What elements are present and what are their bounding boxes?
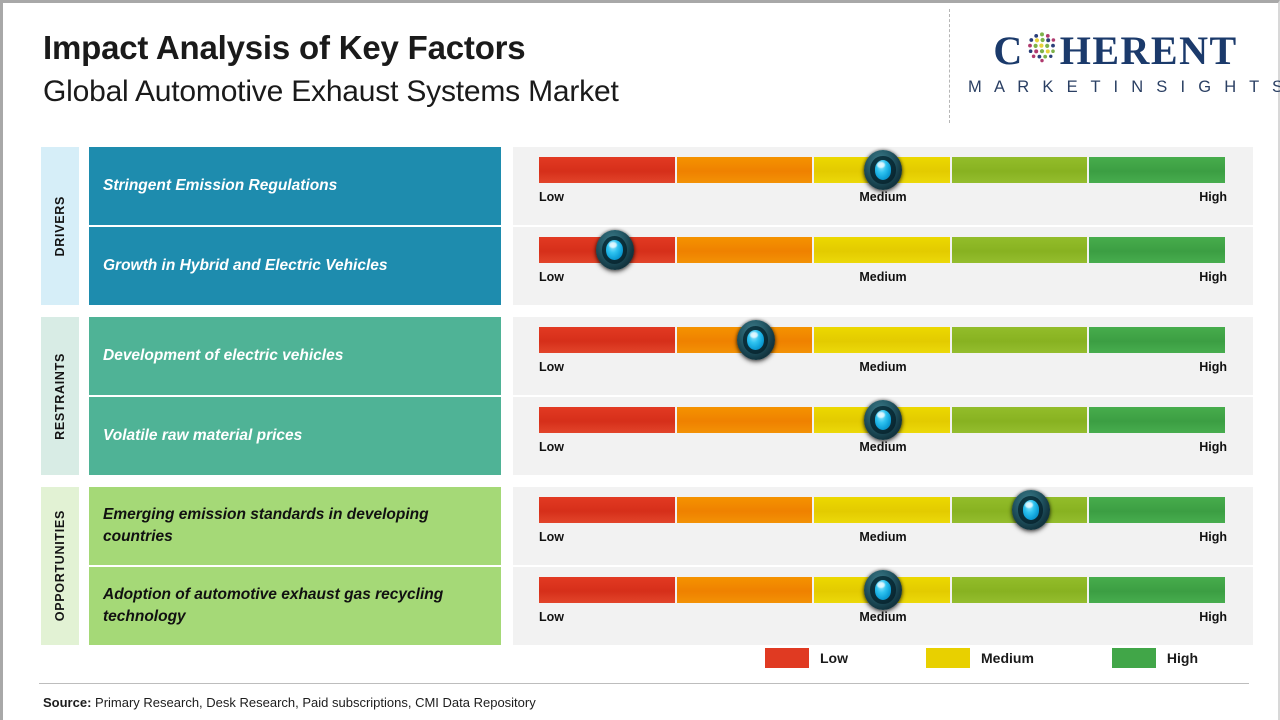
gauge-segment	[1089, 327, 1225, 353]
gauge-segment	[677, 327, 813, 353]
header: Impact Analysis of Key Factors Global Au…	[43, 31, 619, 109]
factor-row: Stringent Emission RegulationsLowMediumH…	[89, 147, 1253, 225]
gauge-bar	[539, 577, 1227, 603]
group-rows: Development of electric vehiclesLowMediu…	[89, 317, 1253, 475]
gauge-scale-labels: LowMediumHigh	[539, 607, 1227, 635]
gauge-segment	[539, 157, 675, 183]
scale-label-high: High	[1199, 440, 1227, 454]
impact-gauge: LowMediumHigh	[513, 567, 1253, 645]
gauge-bar	[539, 497, 1227, 523]
group-tab-label: OPPORTUNITIES	[53, 510, 67, 621]
scale-label-medium: Medium	[859, 270, 906, 284]
factor-label-box[interactable]: Volatile raw material prices	[89, 397, 501, 475]
page-subtitle: Global Automotive Exhaust Systems Market	[43, 75, 619, 110]
slide-root: Impact Analysis of Key Factors Global Au…	[0, 0, 1280, 720]
factor-row: Emerging emission standards in developin…	[89, 487, 1253, 565]
group-tab-opportunities: OPPORTUNITIES	[41, 487, 79, 645]
scale-label-medium: Medium	[859, 360, 906, 374]
gauge-segment	[1089, 157, 1225, 183]
scale-label-medium: Medium	[859, 610, 906, 624]
logo-letter-c: C	[993, 31, 1023, 71]
scale-label-low: Low	[539, 190, 564, 204]
scale-label-low: Low	[539, 610, 564, 624]
scale-label-low: Low	[539, 270, 564, 284]
factor-label: Volatile raw material prices	[103, 425, 302, 447]
factor-group: RESTRAINTSDevelopment of electric vehicl…	[41, 317, 1253, 475]
header-divider	[949, 9, 950, 123]
scale-label-high: High	[1199, 270, 1227, 284]
factor-group: DRIVERSStringent Emission RegulationsLow…	[41, 147, 1253, 305]
factor-label: Growth in Hybrid and Electric Vehicles	[103, 255, 388, 277]
legend-item: High	[1112, 648, 1198, 668]
group-rows: Emerging emission standards in developin…	[89, 487, 1253, 645]
factor-group: OPPORTUNITIESEmerging emission standards…	[41, 487, 1253, 645]
legend-swatch	[926, 648, 970, 668]
gauge-segment	[952, 157, 1088, 183]
scale-label-high: High	[1199, 610, 1227, 624]
legend-item: Medium	[926, 648, 1034, 668]
gauge-segment	[677, 157, 813, 183]
gauge-segment	[539, 407, 675, 433]
gauge-segment	[952, 407, 1088, 433]
factor-label: Development of electric vehicles	[103, 345, 343, 367]
logo-wordmark-rest: HERENT	[1060, 31, 1238, 71]
impact-gauge: LowMediumHigh	[513, 227, 1253, 305]
impact-gauge: LowMediumHigh	[513, 397, 1253, 475]
group-rows: Stringent Emission RegulationsLowMediumH…	[89, 147, 1253, 305]
legend-swatch	[1112, 648, 1156, 668]
gauge-segment	[952, 237, 1088, 263]
scale-label-medium: Medium	[859, 440, 906, 454]
globe-icon	[1025, 30, 1059, 71]
gauge-segment	[952, 327, 1088, 353]
group-tab-label: RESTRAINTS	[53, 353, 67, 440]
factor-label: Stringent Emission Regulations	[103, 175, 337, 197]
scale-label-low: Low	[539, 360, 564, 374]
source-note: Source: Primary Research, Desk Research,…	[43, 695, 536, 710]
gauge-segment	[814, 237, 950, 263]
logo-tagline: M A R K E T I N S I G H T S	[968, 78, 1263, 97]
gauge-scale-labels: LowMediumHigh	[539, 357, 1227, 385]
gauge-segment	[814, 327, 950, 353]
factor-label-box[interactable]: Adoption of automotive exhaust gas recyc…	[89, 567, 501, 645]
scale-label-high: High	[1199, 190, 1227, 204]
group-tab-drivers: DRIVERS	[41, 147, 79, 305]
source-label: Source:	[43, 695, 91, 710]
factor-row: Growth in Hybrid and Electric VehiclesLo…	[89, 227, 1253, 305]
legend: LowMediumHigh	[765, 648, 1198, 668]
gauge-segment	[539, 497, 675, 523]
legend-label: Low	[820, 650, 848, 666]
impact-gauge: LowMediumHigh	[513, 487, 1253, 565]
gauge-segment	[814, 577, 950, 603]
factor-label: Adoption of automotive exhaust gas recyc…	[103, 584, 487, 628]
gauge-scale-labels: LowMediumHigh	[539, 527, 1227, 555]
factor-label-box[interactable]: Emerging emission standards in developin…	[89, 487, 501, 565]
gauge-segment	[1089, 497, 1225, 523]
gauge-scale-labels: LowMediumHigh	[539, 187, 1227, 215]
gauge-segment	[677, 407, 813, 433]
scale-label-high: High	[1199, 360, 1227, 374]
scale-label-medium: Medium	[859, 530, 906, 544]
impact-gauge: LowMediumHigh	[513, 147, 1253, 225]
gauge-bar	[539, 327, 1227, 353]
gauge-segment	[814, 407, 950, 433]
factor-row: Adoption of automotive exhaust gas recyc…	[89, 567, 1253, 645]
gauge-segment	[539, 327, 675, 353]
factor-label: Emerging emission standards in developin…	[103, 504, 487, 548]
scale-label-low: Low	[539, 530, 564, 544]
gauge-segment	[1089, 577, 1225, 603]
scale-label-low: Low	[539, 440, 564, 454]
gauge-bar	[539, 407, 1227, 433]
company-logo: C	[968, 30, 1263, 97]
gauge-scale-labels: LowMediumHigh	[539, 267, 1227, 295]
footer-divider	[39, 683, 1249, 684]
gauge-segment	[952, 577, 1088, 603]
factor-row: Development of electric vehiclesLowMediu…	[89, 317, 1253, 395]
impact-matrix: DRIVERSStringent Emission RegulationsLow…	[41, 147, 1253, 645]
source-text: Primary Research, Desk Research, Paid su…	[91, 695, 535, 710]
legend-item: Low	[765, 648, 848, 668]
scale-label-high: High	[1199, 530, 1227, 544]
legend-label: Medium	[981, 650, 1034, 666]
impact-gauge: LowMediumHigh	[513, 317, 1253, 395]
legend-swatch	[765, 648, 809, 668]
gauge-bar	[539, 237, 1227, 263]
factor-label-box[interactable]: Stringent Emission Regulations	[89, 147, 501, 225]
group-tab-label: DRIVERS	[53, 196, 67, 256]
gauge-segment	[539, 237, 675, 263]
gauge-segment	[814, 497, 950, 523]
gauge-bar	[539, 157, 1227, 183]
logo-wordmark: C	[968, 30, 1263, 71]
page-title: Impact Analysis of Key Factors	[43, 31, 619, 66]
legend-label: High	[1167, 650, 1198, 666]
gauge-segment	[677, 237, 813, 263]
group-tab-restraints: RESTRAINTS	[41, 317, 79, 475]
gauge-segment	[539, 577, 675, 603]
gauge-scale-labels: LowMediumHigh	[539, 437, 1227, 465]
gauge-segment	[677, 497, 813, 523]
gauge-segment	[1089, 407, 1225, 433]
gauge-segment	[952, 497, 1088, 523]
factor-row: Volatile raw material pricesLowMediumHig…	[89, 397, 1253, 475]
scale-label-medium: Medium	[859, 190, 906, 204]
factor-label-box[interactable]: Growth in Hybrid and Electric Vehicles	[89, 227, 501, 305]
factor-label-box[interactable]: Development of electric vehicles	[89, 317, 501, 395]
gauge-segment	[1089, 237, 1225, 263]
gauge-segment	[814, 157, 950, 183]
gauge-segment	[677, 577, 813, 603]
